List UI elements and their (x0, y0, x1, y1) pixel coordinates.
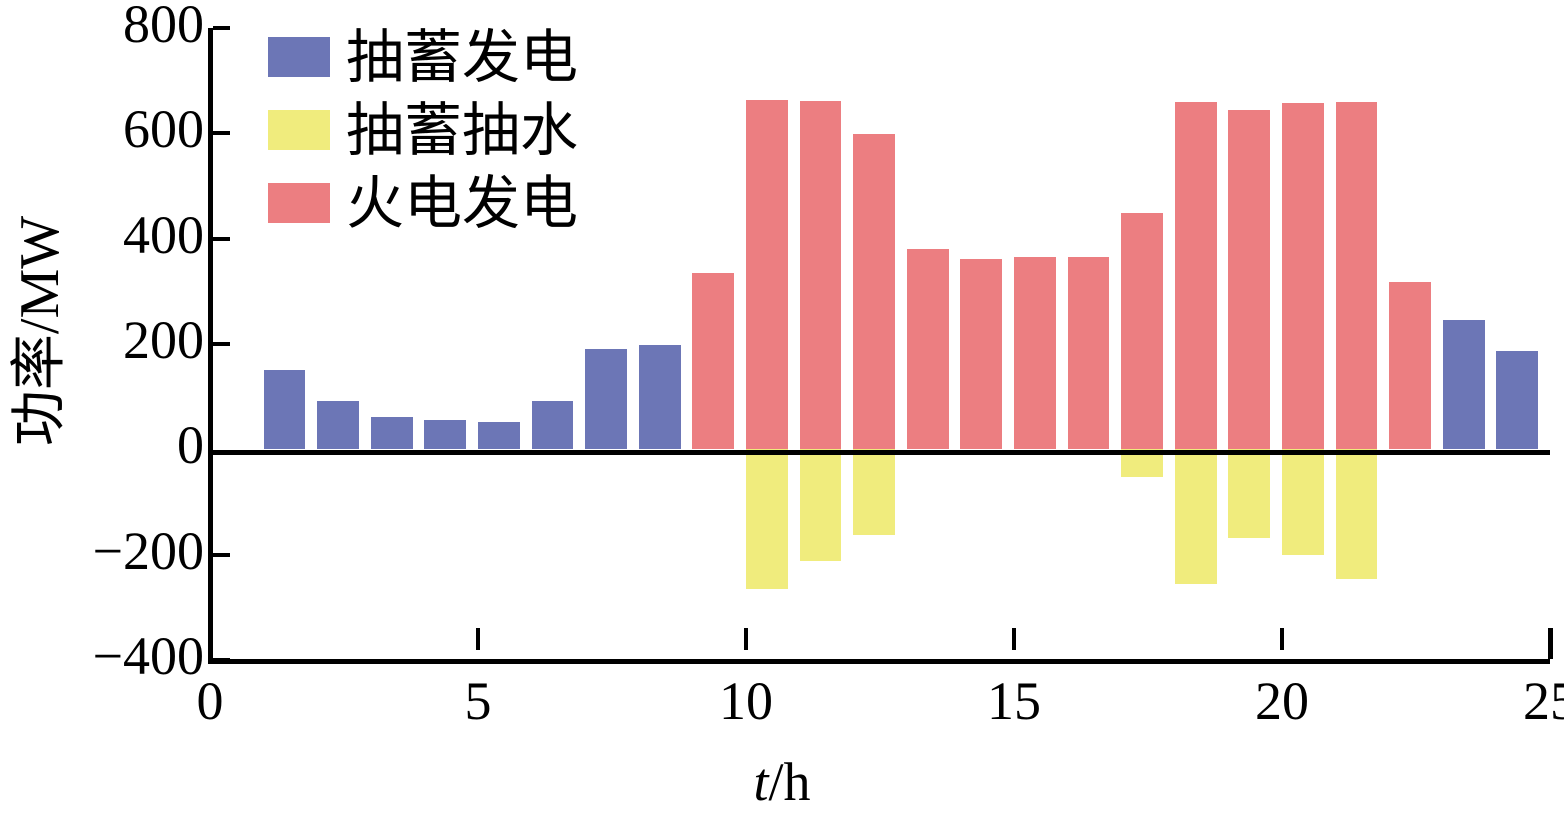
bar-positive-series0-hour1 (264, 370, 306, 449)
x-axis-title-unit: h (784, 752, 811, 812)
bar-negative-series1-hour12 (853, 449, 895, 535)
bar-positive-series2-hour11 (800, 101, 842, 449)
bar-positive-series0-hour2 (317, 401, 359, 449)
bar-positive-series2-hour18 (1175, 102, 1217, 450)
bar-negative-series1-hour19 (1228, 449, 1270, 537)
y-tick-mark-200 (213, 342, 230, 346)
bar-negative-series1-hour10 (746, 449, 788, 589)
x-tick-mark-0 (208, 628, 213, 659)
x-axis-zero-line (208, 450, 1550, 455)
bar-positive-series0-hour3 (371, 417, 413, 450)
y-tick-mark--400 (213, 658, 230, 662)
y-tick-label-400: 400 (123, 208, 204, 262)
bar-negative-series1-hour21 (1336, 449, 1378, 579)
y-tick-label-200: 200 (123, 313, 204, 367)
bar-positive-series2-hour21 (1336, 102, 1378, 450)
y-tick-mark-400 (213, 237, 230, 241)
bar-positive-series2-hour20 (1282, 103, 1324, 449)
y-axis-title: 功率/MW (9, 151, 71, 511)
x-tick-label-20: 20 (1222, 672, 1342, 730)
bar-positive-series2-hour13 (907, 249, 949, 449)
bar-positive-series0-hour5 (478, 422, 520, 449)
x-tick-mark-25 (1548, 628, 1553, 659)
x-tick-mark-10 (744, 628, 748, 650)
y-tick-mark-600 (213, 131, 230, 135)
bar-positive-series2-hour15 (1014, 257, 1056, 450)
y-tick-mark-800 (213, 26, 230, 30)
x-axis-title-separator: / (769, 752, 784, 812)
x-axis-title-variable: t (753, 752, 768, 812)
bar-chart-figure: 抽蓄发电 抽蓄抽水 火电发电 8006004002000−200−400 051… (0, 0, 1564, 828)
bar-positive-series0-hour6 (532, 401, 574, 449)
x-tick-label-0: 0 (150, 672, 270, 730)
x-tick-label-15: 15 (954, 672, 1074, 730)
x-axis-title: t/h (0, 752, 1564, 812)
y-tick-label-0: 0 (177, 418, 204, 472)
bar-positive-series2-hour14 (960, 259, 1002, 450)
x-tick-mark-15 (1012, 628, 1016, 650)
y-tick-label-600: 600 (123, 102, 204, 156)
x-tick-label-10: 10 (686, 672, 806, 730)
x-tick-mark-5 (476, 628, 480, 650)
y-tick-mark--200 (213, 553, 230, 557)
bar-positive-series2-hour16 (1068, 257, 1110, 450)
bar-positive-series0-hour8 (639, 345, 681, 450)
x-tick-label-5: 5 (418, 672, 538, 730)
y-tick-label--200: −200 (93, 524, 204, 578)
bar-positive-series2-hour9 (692, 273, 734, 449)
bar-negative-series1-hour20 (1282, 449, 1324, 554)
plot-area (210, 28, 1550, 660)
bar-positive-series0-hour24 (1496, 351, 1538, 449)
x-tick-label-25: 25 (1490, 672, 1564, 730)
x-axis-line (208, 659, 1550, 664)
bar-positive-series2-hour19 (1228, 110, 1270, 450)
bar-positive-series0-hour23 (1443, 320, 1485, 449)
bar-positive-series2-hour10 (746, 100, 788, 449)
bar-negative-series1-hour11 (800, 449, 842, 561)
x-tick-mark-20 (1280, 628, 1284, 650)
bar-negative-series1-hour18 (1175, 449, 1217, 583)
bar-positive-series2-hour22 (1389, 282, 1431, 449)
bar-positive-series0-hour7 (585, 349, 627, 449)
y-tick-label-800: 800 (123, 0, 204, 51)
bar-positive-series2-hour12 (853, 134, 895, 449)
bar-positive-series0-hour4 (424, 420, 466, 449)
bar-positive-series2-hour17 (1121, 213, 1163, 449)
